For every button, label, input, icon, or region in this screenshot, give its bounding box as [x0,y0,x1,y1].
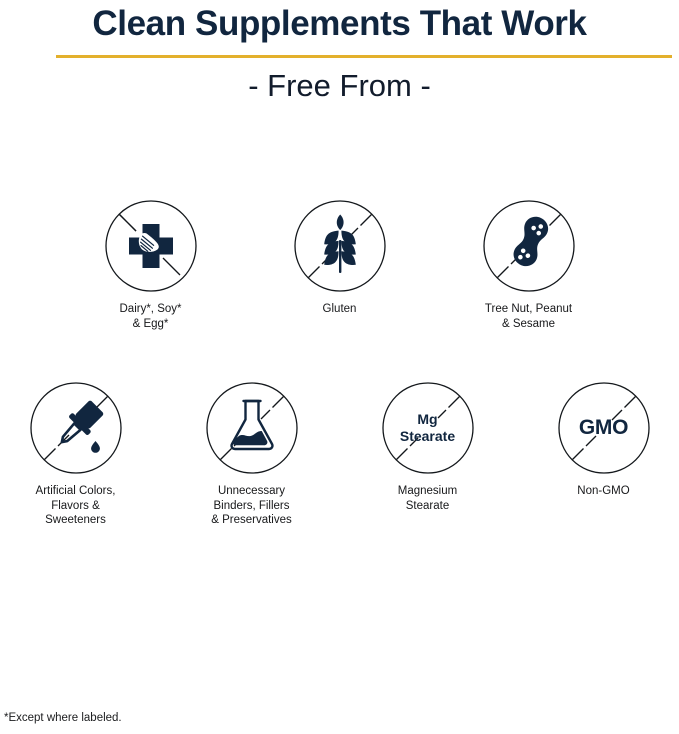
free-from-item-non-gmo: GMO Non-GMO [554,382,654,499]
free-from-label: Tree Nut, Peanut & Sesame [454,302,604,331]
erlenmeyer-flask-icon [206,382,298,474]
free-from-item-tree-nut-peanut-sesame: Tree Nut, Peanut & Sesame [479,200,579,331]
footnote: *Except where labeled. [4,711,122,725]
peanut-icon [483,200,575,292]
page-title: Clean Supplements That Work [0,2,679,46]
free-from-row-2: Artificial Colors, Flavors & Sweeteners … [0,382,679,528]
free-from-label: Non-GMO [539,484,669,499]
free-from-label: Magnesium Stearate [363,484,493,513]
free-from-label: Dairy*, Soy* & Egg* [86,302,216,331]
medical-cross-hand-icon [105,200,197,292]
free-from-item-magnesium-stearate: Mg Stearate Magnesium Stearate [378,382,478,513]
gmo-text-icon: GMO [558,382,650,474]
page-header: Clean Supplements That Work - Free From … [0,0,679,106]
gold-divider-rule [56,55,672,58]
free-from-row-1: Dairy*, Soy* & Egg* [0,200,679,331]
free-from-item-dairy-soy-egg: Dairy*, Soy* & Egg* [101,200,201,331]
wheat-stalk-icon [294,200,386,292]
free-from-label: Unnecessary Binders, Fillers & Preservat… [177,484,327,528]
free-from-label: Gluten [275,302,405,317]
dropper-pipette-icon [30,382,122,474]
free-from-item-gluten: Gluten [290,200,390,317]
mg-stearate-text-icon: Mg Stearate [382,382,474,474]
free-from-item-binders-fillers-preservatives: Unnecessary Binders, Fillers & Preservat… [202,382,302,528]
page-subtitle: - Free From - [0,66,679,106]
free-from-label: Artificial Colors, Flavors & Sweeteners [11,484,141,528]
free-from-item-artificial-colors: Artificial Colors, Flavors & Sweeteners [26,382,126,528]
